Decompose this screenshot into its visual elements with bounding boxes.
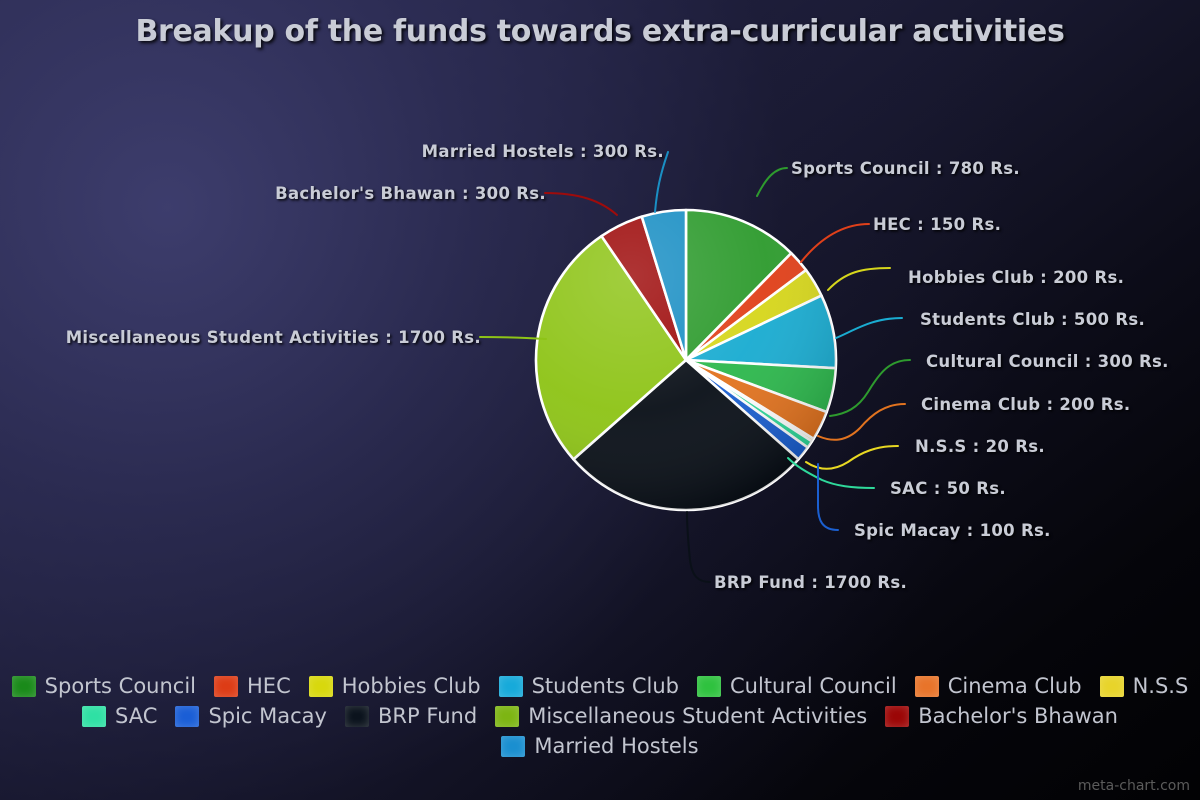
- legend-swatch-icon: [697, 676, 721, 697]
- legend-label: Spic Macay: [208, 706, 327, 727]
- legend-swatch-icon: [82, 706, 106, 727]
- leader-nss: [806, 446, 898, 469]
- legend-swatch-icon: [12, 676, 36, 697]
- chart-root: Breakup of the funds towards extra-curri…: [0, 0, 1200, 800]
- legend-item-n-s-s[interactable]: N.S.S: [1100, 672, 1189, 700]
- callout-students-club: Students Club : 500 Rs.: [920, 310, 1145, 329]
- leader-sports-council: [757, 168, 787, 196]
- leader-cultural-council: [830, 360, 910, 416]
- leader-sac: [788, 458, 874, 488]
- callout-hec: HEC : 150 Rs.: [873, 215, 1001, 234]
- legend-label: Married Hostels: [534, 736, 698, 757]
- legend-item-hec[interactable]: HEC: [214, 672, 291, 700]
- callout-misc-activities: Miscellaneous Student Activities : 1700 …: [0, 328, 481, 347]
- legend-swatch-icon: [495, 706, 519, 727]
- legend-label: Students Club: [532, 676, 679, 697]
- callout-nss: N.S.S : 20 Rs.: [915, 437, 1045, 456]
- chart-legend: Sports CouncilHECHobbies ClubStudents Cl…: [0, 672, 1200, 760]
- legend-item-cultural-council[interactable]: Cultural Council: [697, 672, 897, 700]
- legend-swatch-icon: [915, 676, 939, 697]
- legend-swatch-icon: [214, 676, 238, 697]
- legend-item-bachelor-s-bhawan[interactable]: Bachelor's Bhawan: [885, 702, 1118, 730]
- legend-swatch-icon: [1100, 676, 1124, 697]
- legend-swatch-icon: [175, 706, 199, 727]
- legend-swatch-icon: [309, 676, 333, 697]
- watermark: meta-chart.com: [1078, 778, 1190, 794]
- legend-label: N.S.S: [1133, 676, 1189, 697]
- legend-item-cinema-club[interactable]: Cinema Club: [915, 672, 1082, 700]
- legend-label: SAC: [115, 706, 157, 727]
- legend-label: Cultural Council: [730, 676, 897, 697]
- legend-item-spic-macay[interactable]: Spic Macay: [175, 702, 327, 730]
- legend-swatch-icon: [345, 706, 369, 727]
- legend-label: Miscellaneous Student Activities: [528, 706, 867, 727]
- leader-hec: [801, 224, 869, 262]
- legend-label: Hobbies Club: [342, 676, 481, 697]
- callout-married-hostels: Married Hostels : 300 Rs.: [0, 142, 664, 161]
- legend-swatch-icon: [501, 736, 525, 757]
- legend-item-sports-council[interactable]: Sports Council: [12, 672, 196, 700]
- leader-misc-activities: [480, 337, 546, 339]
- leader-spic-macay: [818, 464, 838, 530]
- legend-label: Sports Council: [45, 676, 196, 697]
- callout-hobbies-club: Hobbies Club : 200 Rs.: [908, 268, 1124, 287]
- legend-item-married-hostels[interactable]: Married Hostels: [501, 732, 698, 760]
- callout-cultural-council: Cultural Council : 300 Rs.: [926, 352, 1169, 371]
- legend-label: HEC: [247, 676, 291, 697]
- legend-item-sac[interactable]: SAC: [82, 702, 157, 730]
- legend-item-hobbies-club[interactable]: Hobbies Club: [309, 672, 481, 700]
- legend-swatch-icon: [885, 706, 909, 727]
- leader-bachelors-bhawan: [545, 193, 617, 215]
- legend-item-miscellaneous-student-activities[interactable]: Miscellaneous Student Activities: [495, 702, 867, 730]
- callout-spic-macay: Spic Macay : 100 Rs.: [854, 521, 1051, 540]
- leader-students-club: [836, 318, 902, 338]
- legend-label: Cinema Club: [948, 676, 1082, 697]
- leader-cinema-club: [818, 404, 905, 440]
- callout-cinema-club: Cinema Club : 200 Rs.: [921, 395, 1130, 414]
- legend-label: Bachelor's Bhawan: [918, 706, 1118, 727]
- leader-hobbies-club: [828, 268, 890, 290]
- callout-sac: SAC : 50 Rs.: [890, 479, 1006, 498]
- legend-item-brp-fund[interactable]: BRP Fund: [345, 702, 477, 730]
- callout-brp-fund: BRP Fund : 1700 Rs.: [714, 573, 907, 592]
- legend-item-students-club[interactable]: Students Club: [499, 672, 679, 700]
- leader-brp-fund: [687, 512, 710, 582]
- legend-swatch-icon: [499, 676, 523, 697]
- leader-married-hostels: [655, 152, 668, 212]
- callout-bachelors-bhawan: Bachelor's Bhawan : 300 Rs.: [0, 184, 546, 203]
- callout-sports-council: Sports Council : 780 Rs.: [791, 159, 1020, 178]
- legend-label: BRP Fund: [378, 706, 477, 727]
